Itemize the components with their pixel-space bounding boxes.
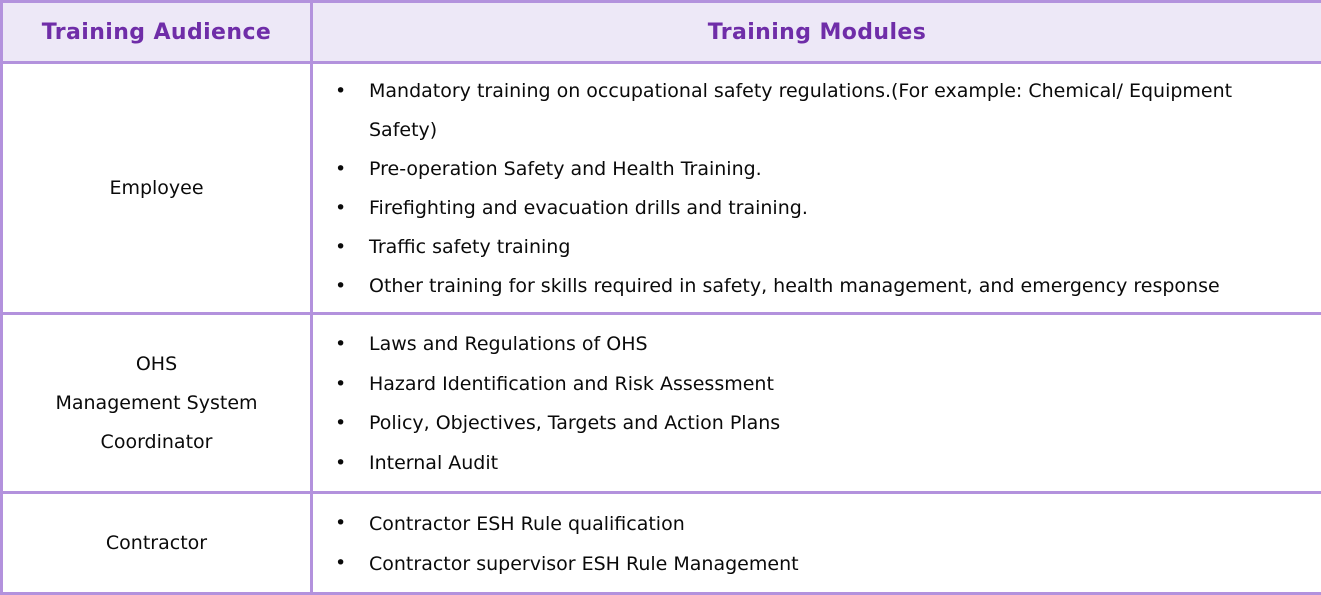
table-row: OHS Management System Coordinator • Laws…: [2, 314, 1321, 493]
list-item: • Traffic safety training: [325, 228, 1311, 267]
audience-cell-contractor: Contractor: [2, 493, 312, 594]
bullet-icon: •: [335, 444, 346, 484]
module-text: Mandatory training on occupational safet…: [369, 80, 1232, 141]
table-row: Employee • Mandatory training on occupat…: [2, 63, 1321, 314]
bullet-icon: •: [335, 267, 346, 307]
list-item: • Mandatory training on occupational saf…: [325, 72, 1311, 150]
audience-line: Coordinator: [11, 423, 302, 462]
modules-cell-contractor: • Contractor ESH Rule qualification • Co…: [312, 493, 1321, 594]
list-item: • Contractor ESH Rule qualification: [325, 504, 1311, 544]
list-item: • Pre-operation Safety and Health Traini…: [325, 150, 1311, 189]
list-item: • Laws and Regulations of OHS: [325, 325, 1311, 365]
module-list: • Mandatory training on occupational saf…: [325, 72, 1311, 306]
modules-cell-ohs-coordinator: • Laws and Regulations of OHS • Hazard I…: [312, 314, 1321, 493]
module-text: Other training for skills required in sa…: [369, 275, 1220, 297]
module-text: Contractor supervisor ESH Rule Managemen…: [369, 553, 799, 575]
table-body: Employee • Mandatory training on occupat…: [2, 63, 1321, 594]
list-item: • Policy, Objectives, Targets and Action…: [325, 404, 1311, 444]
audience-line: Employee: [11, 169, 302, 208]
training-table-container: Training Audience Training Modules Emplo…: [0, 0, 1321, 582]
audience-cell-employee: Employee: [2, 63, 312, 314]
module-text: Traffic safety training: [369, 236, 570, 258]
bullet-icon: •: [335, 504, 346, 544]
column-header-training-audience: Training Audience: [2, 2, 312, 63]
table-header: Training Audience Training Modules: [2, 2, 1321, 63]
modules-cell-employee: • Mandatory training on occupational saf…: [312, 63, 1321, 314]
module-text: Internal Audit: [369, 452, 498, 474]
list-item: • Internal Audit: [325, 444, 1311, 484]
module-text: Laws and Regulations of OHS: [369, 333, 648, 355]
list-item: • Hazard Identification and Risk Assessm…: [325, 365, 1311, 405]
header-row: Training Audience Training Modules: [2, 2, 1321, 63]
bullet-icon: •: [335, 325, 346, 365]
audience-cell-ohs-coordinator: OHS Management System Coordinator: [2, 314, 312, 493]
audience-line: Contractor: [11, 524, 302, 563]
module-text: Pre-operation Safety and Health Training…: [369, 158, 762, 180]
module-text: Contractor ESH Rule qualification: [369, 513, 685, 535]
bullet-icon: •: [335, 150, 346, 190]
module-list: • Contractor ESH Rule qualification • Co…: [325, 504, 1311, 584]
list-item: • Other training for skills required in …: [325, 267, 1311, 306]
list-item: • Contractor supervisor ESH Rule Managem…: [325, 544, 1311, 584]
audience-line: OHS: [11, 345, 302, 384]
training-table: Training Audience Training Modules Emplo…: [0, 0, 1321, 595]
bullet-icon: •: [335, 72, 346, 112]
bullet-icon: •: [335, 404, 346, 444]
list-item: • Firefighting and evacuation drills and…: [325, 189, 1311, 228]
column-header-training-modules: Training Modules: [312, 2, 1321, 63]
bullet-icon: •: [335, 365, 346, 405]
bullet-icon: •: [335, 189, 346, 229]
module-list: • Laws and Regulations of OHS • Hazard I…: [325, 325, 1311, 483]
module-text: Hazard Identification and Risk Assessmen…: [369, 373, 774, 395]
module-text: Firefighting and evacuation drills and t…: [369, 197, 808, 219]
module-text: Policy, Objectives, Targets and Action P…: [369, 412, 780, 434]
audience-line: Management System: [11, 384, 302, 423]
table-row: Contractor • Contractor ESH Rule qualifi…: [2, 493, 1321, 594]
bullet-icon: •: [335, 544, 346, 584]
bullet-icon: •: [335, 228, 346, 268]
